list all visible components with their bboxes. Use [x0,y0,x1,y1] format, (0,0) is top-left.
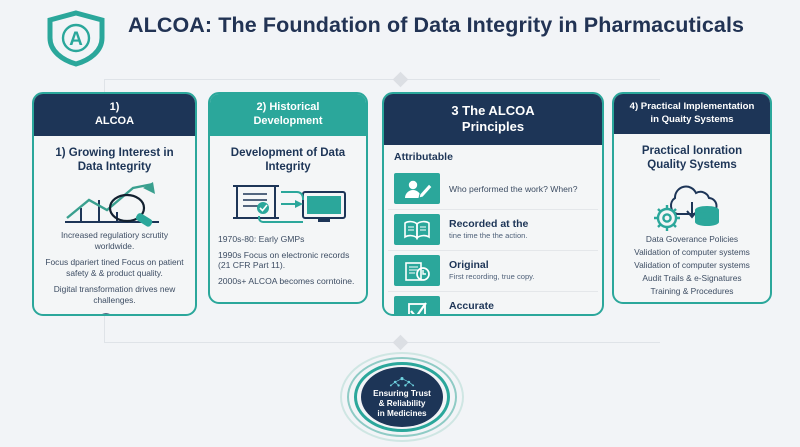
card-4-bullet-3: Validation of computer systems [622,260,762,271]
card-2-header-line1: 2) Historical [216,101,360,115]
card-practical-implementation[interactable]: 4) Practical Implementation in Quaity Sy… [612,92,772,304]
principle-original-text: Original First recording, true copy. [449,259,592,281]
badge-line-3: in Medicines [377,409,426,419]
card-4-header: 4) Practical Implementation in Quaity Sy… [614,94,770,134]
card-2-bullet-2: 1990s Focus on electronic records (21 CF… [218,250,358,271]
principle-row-contemporaneous[interactable]: Recorded at the tine time the the action… [388,210,598,251]
footer-badge: Ensuring Trust & Reliability in Medicine… [340,352,464,442]
connector-line-top [104,79,660,80]
principle-contemporaneous-desc: tine time the the action. [449,231,592,240]
connector-node-top [393,72,409,88]
principle-contemporaneous-title: Recorded at the [449,218,592,230]
card-3-header: 3 The ALCOA Principles [384,94,602,145]
principle-row-attributable[interactable]: Who performed the work? When? [388,169,598,210]
card-2-bullet-3: 2000s+ ALCOA becomes corntoine. [218,276,358,287]
badge-core: Ensuring Trust & Reliability in Medicine… [361,367,443,427]
principles-section-label: Attributable [394,151,598,163]
card-alcoa-principles[interactable]: 3 The ALCOA Principles Attributable Who … [382,92,604,316]
growth-chart-magnifier-icon [42,178,187,230]
card-2-header-line2: Development [216,115,360,129]
card-historical-development[interactable]: 2) Historical Development Development of… [208,92,368,304]
infographic-canvas: A ALCOA: The Foundation of Data Integrit… [0,0,800,447]
principle-contemporaneous-text: Recorded at the tine time the the action… [449,218,592,240]
connector-node-bottom [393,335,409,351]
principle-row-accurate[interactable]: Accurate Correct, trusthful, reliable [388,292,598,316]
svg-text:A: A [69,29,83,50]
page-title: ALCOA: The Foundation of Data Integrity … [128,12,768,38]
card-alcoa-overview[interactable]: 1) ALCOA 1) Growing Interest in Data Int… [32,92,197,316]
badge-line-1: Ensuring Trust [373,389,431,399]
card-4-subtitle: Practical Ionration Quality Systems [622,144,762,172]
card-4-bullet-5: Training & Procedures [622,286,762,297]
document-to-monitor-icon [218,178,358,234]
card-4-header-line2: in Quaity Systems [620,114,764,127]
principle-row-original[interactable]: Original First recording, true copy. [388,251,598,292]
card-4-bullet-1: Data Goverance Policies [622,234,762,245]
card-1-bullet-2: Focus dpariert tined Focus on patient sa… [42,257,187,279]
badge-line-2: & Reliability [379,399,426,409]
card-1-header-line2: ALCOA [40,115,189,129]
card-4-body: Practical Ionration Quality Systems [614,134,770,304]
card-1-bullet-1: Increased regulatiory scrutity worldwide… [42,230,187,252]
card-2-header: 2) Historical Development [210,94,366,136]
card-2-body: Development of Data Integrity [210,136,366,297]
principle-attributable-text: Who performed the work? When? [449,183,592,195]
card-4-header-line1: 4) Practical Implementation [620,101,764,114]
card-1-body: 1) Growing Interest in Data Integrity In… [34,136,195,316]
card-1-header-line1: 1) [40,101,189,115]
card-4-bullets: Data Goverance Policies Validation of co… [622,234,762,297]
cloud-gear-database-icon [622,176,762,234]
card-1-bullet-3: Digital transformation drives new challe… [42,284,187,306]
card-3-header-line2: Principles [390,119,596,135]
checkbox-tick-icon [394,296,440,316]
principle-original-desc: First recording, true copy. [449,272,592,281]
principle-accurate-title: Accurate [449,300,592,312]
open-book-icon [394,214,440,245]
network-nodes-icon [387,376,417,388]
card-2-bullet-1: 1970s-80: Early GMPs [218,234,358,245]
card-3-header-line1: 3 The ALCOA [390,103,596,119]
principle-attributable-desc: Who performed the work? When? [449,184,592,195]
principle-accurate-desc: Correct, trusthful, reliable [449,313,592,316]
card-4-bullet-4: Audit Trails & e-Signatures [622,273,762,284]
header: A ALCOA: The Foundation of Data Integrit… [0,0,800,74]
card-2-bullets: 1970s-80: Early GMPs 1990s Focus on elec… [218,234,358,286]
principle-accurate-text: Accurate Correct, trusthful, reliable [449,300,592,316]
card-3-body: Attributable Who performed the work? Whe… [384,145,602,316]
shield-a-logo: A [40,8,112,68]
document-clock-icon [394,255,440,286]
card-1-header: 1) ALCOA [34,94,195,136]
person-pen-icon [394,173,440,204]
principle-original-title: Original [449,259,592,271]
card-2-subtitle: Development of Data Integrity [218,146,358,174]
globe-lock-icon [42,311,187,316]
connector-line-bottom [104,342,660,343]
card-1-subtitle: 1) Growing Interest in Data Integrity [42,146,187,174]
card-1-bullets: Increased regulatiory scrutity worldwide… [42,230,187,306]
card-4-bullet-2: Validation of computer systems [622,247,762,258]
